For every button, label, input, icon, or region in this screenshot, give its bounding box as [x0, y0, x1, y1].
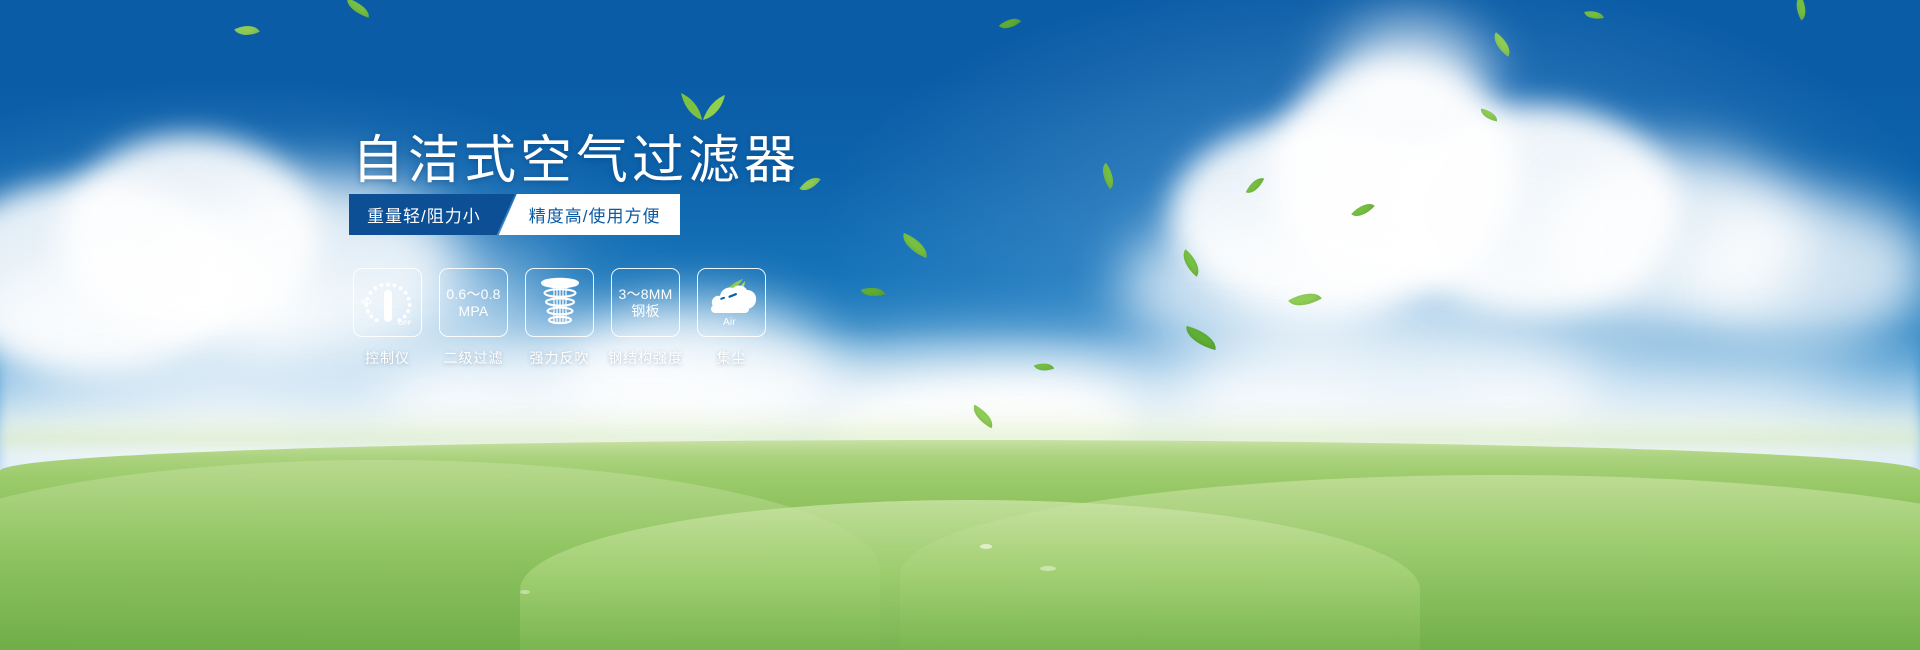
feature-label: 钢结构强度: [608, 348, 683, 368]
steel-thickness: 3～8MM: [619, 286, 673, 303]
pressure-text-icon: 0.6～0.8 MPA: [439, 268, 508, 337]
cloud-air-icon: Air: [697, 268, 766, 337]
gauge-dial-icon: NO OFF: [353, 268, 422, 337]
steel-plate-text-icon: 3～8MM 钢板: [611, 268, 680, 337]
feature-tag-row: 重量轻/阻力小 精度高/使用方便: [349, 194, 680, 235]
feature-two-stage-filtration[interactable]: 0.6～0.8 MPA 二级过滤: [438, 268, 509, 368]
pressure-value: 0.6～0.8: [446, 286, 500, 303]
feature-label: 强力反吹: [530, 348, 590, 368]
feature-control-instrument[interactable]: NO OFF 控制仪: [352, 268, 423, 368]
banner-content: 自洁式空气过滤器 重量轻/阻力小 精度高/使用方便: [0, 0, 1920, 650]
leaf-icon: [680, 90, 726, 120]
tag-high-precision-easy-use[interactable]: 精度高/使用方便: [499, 194, 681, 235]
feature-label: 控制仪: [365, 348, 410, 368]
filter-cartridge-icon: [525, 268, 594, 337]
page-title: 自洁式空气过滤器: [352, 118, 800, 193]
feature-steel-structure-strength[interactable]: 3～8MM 钢板 钢结构强度: [610, 268, 681, 368]
svg-text:Air: Air: [723, 317, 736, 328]
svg-text:OFF: OFF: [398, 320, 412, 327]
tag-lightweight-low-resistance[interactable]: 重量轻/阻力小: [349, 194, 515, 235]
product-hero-banner: 自洁式空气过滤器 重量轻/阻力小 精度高/使用方便: [0, 0, 1920, 650]
pressure-unit: MPA: [459, 303, 489, 320]
feature-label: 二级过滤: [444, 348, 504, 368]
feature-label: 集尘: [717, 348, 747, 368]
feature-strong-back-blow[interactable]: 强力反吹: [524, 268, 595, 368]
feature-dust-collection[interactable]: Air 集尘: [696, 268, 767, 368]
feature-icon-row: NO OFF 控制仪 0.6～0.8 MPA 二级过滤: [352, 268, 767, 368]
steel-material: 钢板: [631, 303, 659, 320]
svg-text:NO: NO: [361, 299, 372, 306]
